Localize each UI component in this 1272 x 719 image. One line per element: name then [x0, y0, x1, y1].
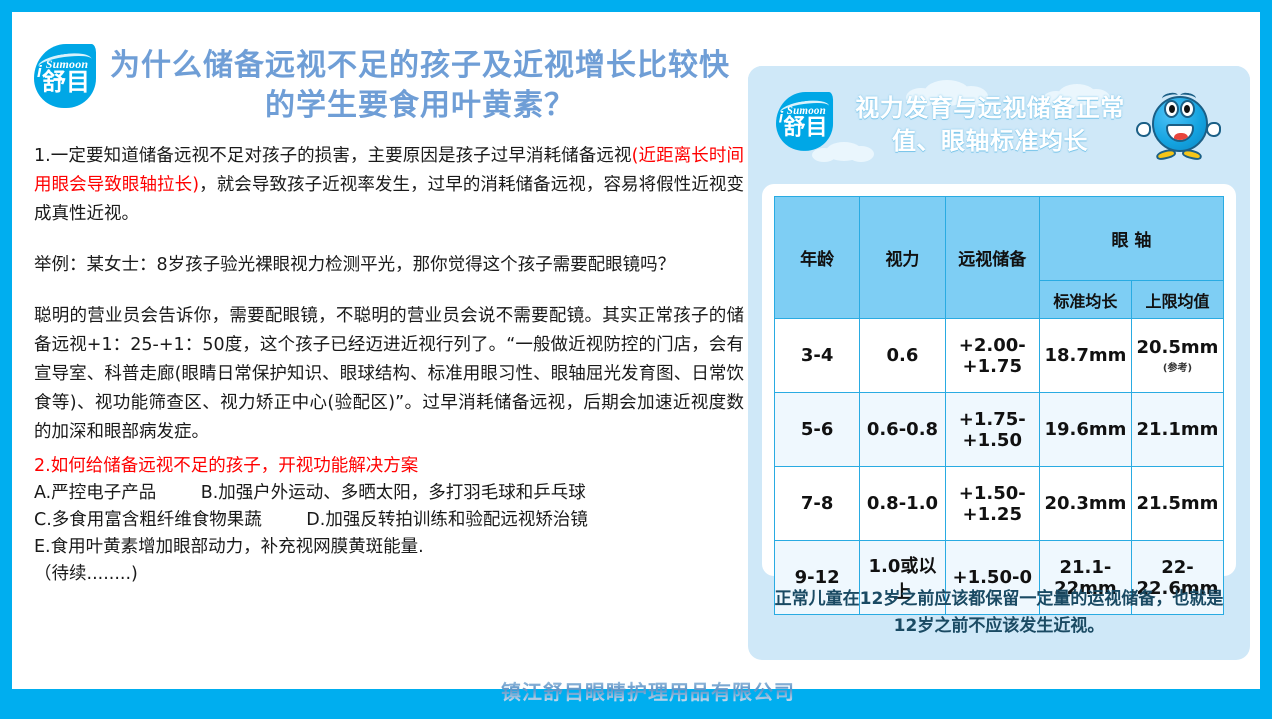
paragraph-1: 1.一定要知道储备远视不足对孩子的损害，主要原因是孩子过早消耗储备远视(近距离长… — [34, 142, 744, 229]
panel-title: 视力发育与远视储备正常值、眼轴标准均长 — [852, 92, 1128, 158]
left-content-column: i Sumoon 舒目 为什么储备远视不足的孩子及近视增长比较快的学生要食用叶黄… — [34, 44, 744, 664]
cell-age: 3-4 — [775, 319, 860, 393]
cell-axis-standard: 20.3mm — [1039, 467, 1131, 541]
cell-axis-standard: 19.6mm — [1039, 393, 1131, 467]
cell-age: 7-8 — [775, 467, 860, 541]
page-title: 为什么储备远视不足的孩子及近视增长比较快的学生要食用叶黄素？ — [110, 46, 730, 126]
frame-border-left — [0, 0, 12, 719]
cell-age: 5-6 — [775, 393, 860, 467]
title-row: i Sumoon 舒目 为什么储备远视不足的孩子及近视增长比较快的学生要食用叶黄… — [34, 44, 744, 126]
table-body: 3-4 0.6 +2.00-+1.75 18.7mm 20.5mm(参考) 5-… — [775, 319, 1224, 615]
cell-axis-upper-value: 20.5mm — [1137, 337, 1219, 358]
panel-note: 正常儿童在12岁之前应该都保留一定量的运视储备，也就是12岁之前不应该发生近视。 — [766, 586, 1232, 640]
cell-axis-upper-note: (参考) — [1132, 359, 1223, 374]
mascot-pupil-left — [1169, 105, 1175, 113]
poster-canvas: i Sumoon 舒目 为什么储备远视不足的孩子及近视增长比较快的学生要食用叶黄… — [12, 12, 1260, 689]
logo-chinese-text: 舒目 — [38, 69, 94, 95]
reference-panel: i Sumoon 舒目 视力发育与远视储备正常值、眼轴标准均长 — [748, 66, 1250, 660]
header-axis-group: 眼 轴 — [1039, 197, 1223, 281]
header-age: 年龄 — [775, 197, 860, 319]
cell-reserve: +2.00-+1.75 — [945, 319, 1039, 393]
article-body: 1.一定要知道储备远视不足对孩子的损害，主要原因是孩子过早消耗储备远视(近距离长… — [34, 142, 744, 447]
brand-logo-droplet-icon: i Sumoon 舒目 — [776, 92, 833, 151]
paragraph-2: 举例：某女士：8岁孩子验光裸眼视力检测平光，那你觉得这个孩子需要配眼镜吗？ — [34, 251, 744, 280]
vision-reference-table: 年龄 视力 远视储备 眼 轴 标准均长 上限均值 3-4 — [774, 196, 1224, 615]
paragraph-1-part-a: 1.一定要知道储备远视不足对孩子的损害，主要原因是孩子过早消耗储备远视 — [34, 146, 632, 166]
reference-table-card: 年龄 视力 远视储备 眼 轴 标准均长 上限均值 3-4 — [762, 184, 1236, 576]
cell-vision: 0.8-1.0 — [860, 467, 945, 541]
cell-axis-upper: 21.1mm — [1131, 393, 1223, 467]
mascot-hand-left — [1136, 122, 1151, 137]
mascot-hand-right — [1206, 122, 1221, 137]
table-header-row-1: 年龄 视力 远视储备 眼 轴 — [775, 197, 1224, 281]
solution-continued: （待续........) — [34, 561, 744, 588]
logo-chinese-text: 舒目 — [780, 115, 832, 139]
panel-header: i Sumoon 舒目 视力发育与远视储备正常值、眼轴标准均长 — [748, 66, 1250, 174]
table-row: 7-8 0.8-1.0 +1.50-+1.25 20.3mm 21.5mm — [775, 467, 1224, 541]
header-axis-standard: 标准均长 — [1039, 281, 1131, 319]
solution-option-ab: A.严控电子产品 B.加强户外运动、多晒太阳，多打羽毛球和乒乓球 — [34, 480, 744, 507]
panel-brand-logo: i Sumoon 舒目 — [776, 92, 833, 151]
cell-axis-upper: 21.5mm — [1131, 467, 1223, 541]
cell-axis-upper: 20.5mm(参考) — [1131, 319, 1223, 393]
solution-option-e: E.食用叶黄素增加眼部动力，补充视网膜黄斑能量. — [34, 534, 744, 561]
brand-logo-droplet-icon: i Sumoon 舒目 — [34, 44, 96, 108]
table-row: 5-6 0.6-0.8 +1.75-+1.50 19.6mm 21.1mm — [775, 393, 1224, 467]
frame-border-right — [1260, 0, 1272, 719]
header-reserve: 远视储备 — [945, 197, 1039, 319]
solution-heading: 2.如何给储备远视不足的孩子，开视功能解决方案 — [34, 453, 744, 480]
company-name: 镇江舒目眼睛护理用品有限公司 — [12, 676, 1272, 705]
table-row: 3-4 0.6 +2.00-+1.75 18.7mm 20.5mm(参考) — [775, 319, 1224, 393]
poster-page: i Sumoon 舒目 为什么储备远视不足的孩子及近视增长比较快的学生要食用叶黄… — [0, 0, 1272, 719]
mascot-tongue — [1174, 133, 1188, 142]
solution-option-cd: C.多食用富含粗纤维食物果蔬 D.加强反转拍训练和验配远视矫治镜 — [34, 507, 744, 534]
mascot-pupil-right — [1184, 105, 1190, 113]
cell-reserve: +1.50-+1.25 — [945, 467, 1039, 541]
paragraph-3: 聪明的营业员会告诉你，需要配眼镜，不聪明的营业员会说不需要配镜。其实正常孩子的储… — [34, 302, 744, 447]
header-axis-upper: 上限均值 — [1131, 281, 1223, 319]
solution-list: 2.如何给储备远视不足的孩子，开视功能解决方案 A.严控电子产品 B.加强户外运… — [34, 453, 744, 588]
header-vision: 视力 — [860, 197, 945, 319]
cell-vision: 0.6 — [860, 319, 945, 393]
cell-reserve: +1.75-+1.50 — [945, 393, 1039, 467]
table-head: 年龄 视力 远视储备 眼 轴 标准均长 上限均值 — [775, 197, 1224, 319]
cell-axis-standard: 18.7mm — [1039, 319, 1131, 393]
frame-border-top — [0, 0, 1272, 12]
mascot-character-icon — [1134, 82, 1226, 172]
cell-vision: 0.6-0.8 — [860, 393, 945, 467]
